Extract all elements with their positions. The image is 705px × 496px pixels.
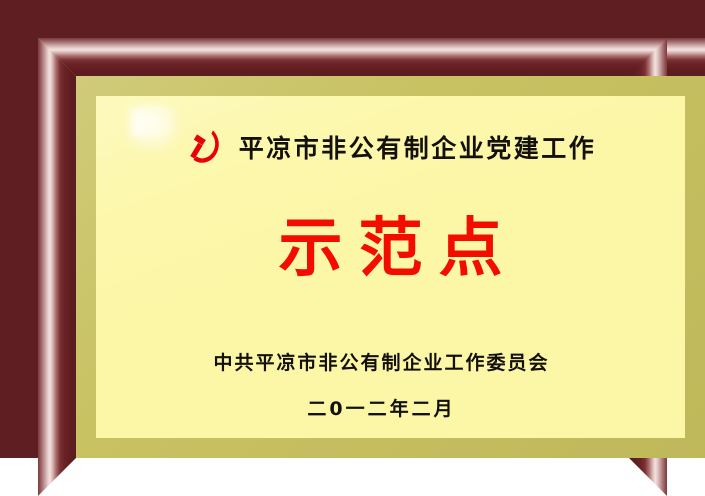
plaque-face: 平凉市非公有制企业党建工作 示范点 中共平凉市非公有制企业工作委员会 二0一二年… [96,96,685,438]
cpc-hammer-sickle-icon [185,128,225,168]
issue-date: 二0一二年二月 [96,394,685,421]
headline-row: 平凉市非公有制企业党建工作 [96,128,685,168]
headline-text: 平凉市非公有制企业党建工作 [239,136,597,161]
award-plaque: 平凉市非公有制企业党建工作 示范点 中共平凉市非公有制企业工作委员会 二0一二年… [0,0,705,458]
issuing-authority: 中共平凉市非公有制企业工作委员会 [96,348,685,375]
plaque-content: 平凉市非公有制企业党建工作 示范点 中共平凉市非公有制企业工作委员会 二0一二年… [96,96,685,438]
award-title: 示范点 [96,216,685,283]
frame-top-rail [38,38,705,76]
frame-left-rail [38,38,76,496]
